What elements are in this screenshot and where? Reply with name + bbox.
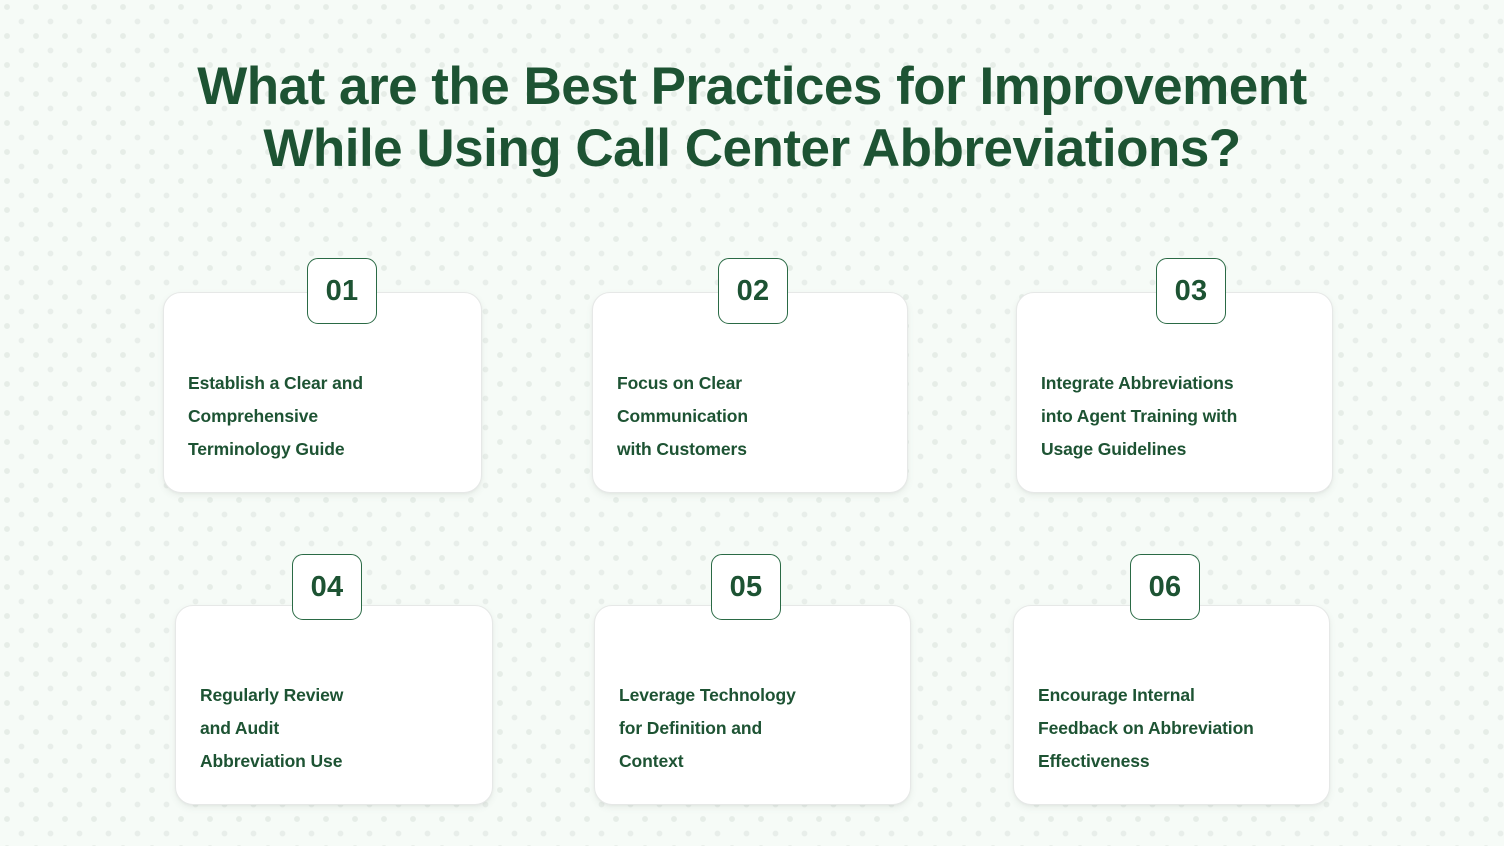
card-text-line: Regularly Review (200, 685, 343, 705)
practice-card-03-text: Integrate Abbreviations into Agent Train… (1041, 367, 1314, 466)
card-text-line: with Customers (617, 439, 747, 459)
practice-card-05[interactable]: Leverage Technology for Definition and C… (594, 605, 911, 805)
card-text-line: Usage Guidelines (1041, 439, 1186, 459)
card-text-line: Integrate Abbreviations (1041, 373, 1234, 393)
practice-card-03-number-badge: 03 (1156, 258, 1226, 324)
practice-card-01-text: Establish a Clear and Comprehensive Term… (188, 367, 463, 466)
page-title: What are the Best Practices for Improvem… (0, 56, 1504, 180)
card-text-line: Focus on Clear (617, 373, 742, 393)
card-text-line: Comprehensive (188, 406, 318, 426)
card-text-line: Terminology Guide (188, 439, 344, 459)
practice-card-04[interactable]: Regularly Review and Audit Abbreviation … (175, 605, 493, 805)
page-title-line-1: What are the Best Practices for Improvem… (90, 56, 1414, 118)
card-text-line: Feedback on Abbreviation (1038, 718, 1254, 738)
practice-card-04-number-badge: 04 (292, 554, 362, 620)
practice-card-06-text: Encourage Internal Feedback on Abbreviat… (1038, 679, 1311, 778)
practice-card-01-number-badge: 01 (307, 258, 377, 324)
practice-card-05-text: Leverage Technology for Definition and C… (619, 679, 892, 778)
card-text-line: Leverage Technology (619, 685, 796, 705)
card-text-line: Effectiveness (1038, 751, 1150, 771)
card-text-line: Context (619, 751, 683, 771)
card-text-line: and Audit (200, 718, 279, 738)
card-text-line: Abbreviation Use (200, 751, 342, 771)
practice-card-06[interactable]: Encourage Internal Feedback on Abbreviat… (1013, 605, 1330, 805)
card-text-line: Establish a Clear and (188, 373, 363, 393)
practice-card-04-text: Regularly Review and Audit Abbreviation … (200, 679, 474, 778)
card-text-line: Communication (617, 406, 748, 426)
practice-card-02-text: Focus on Clear Communication with Custom… (617, 367, 889, 466)
card-text-line: Encourage Internal (1038, 685, 1195, 705)
page-title-line-2: While Using Call Center Abbreviations? (90, 118, 1414, 180)
practice-card-05-number-badge: 05 (711, 554, 781, 620)
infographic-page: What are the Best Practices for Improvem… (0, 0, 1504, 846)
practice-card-02-number-badge: 02 (718, 258, 788, 324)
card-text-line: into Agent Training with (1041, 406, 1237, 426)
practice-card-06-number-badge: 06 (1130, 554, 1200, 620)
card-text-line: for Definition and (619, 718, 762, 738)
